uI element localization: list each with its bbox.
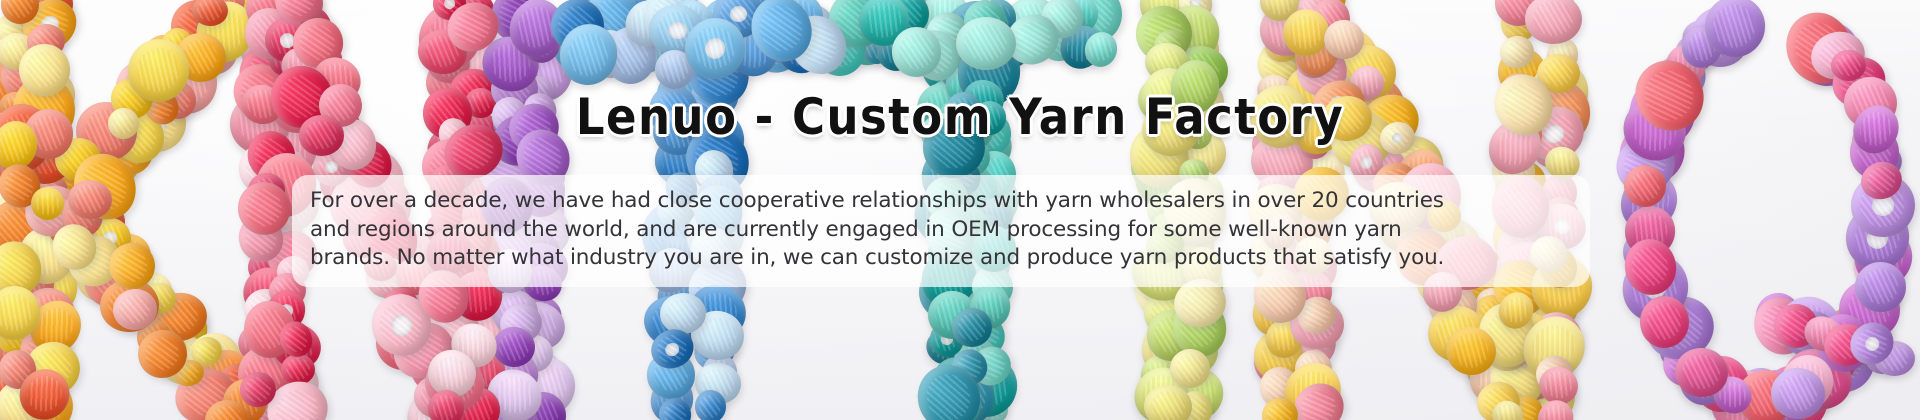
description-text: For over a decade, we have had close coo… [310,187,1572,273]
yarn-banner: Lenuo - Custom Yarn Factory For over a d… [0,0,1920,420]
description-panel: For over a decade, we have had close coo… [292,175,1590,287]
page-title: Lenuo - Custom Yarn Factory [0,88,1920,146]
yarn-ball [1524,0,1582,45]
yarn-letter-g-7 [1608,0,1908,420]
yarn-letter-k-0 [10,0,260,420]
